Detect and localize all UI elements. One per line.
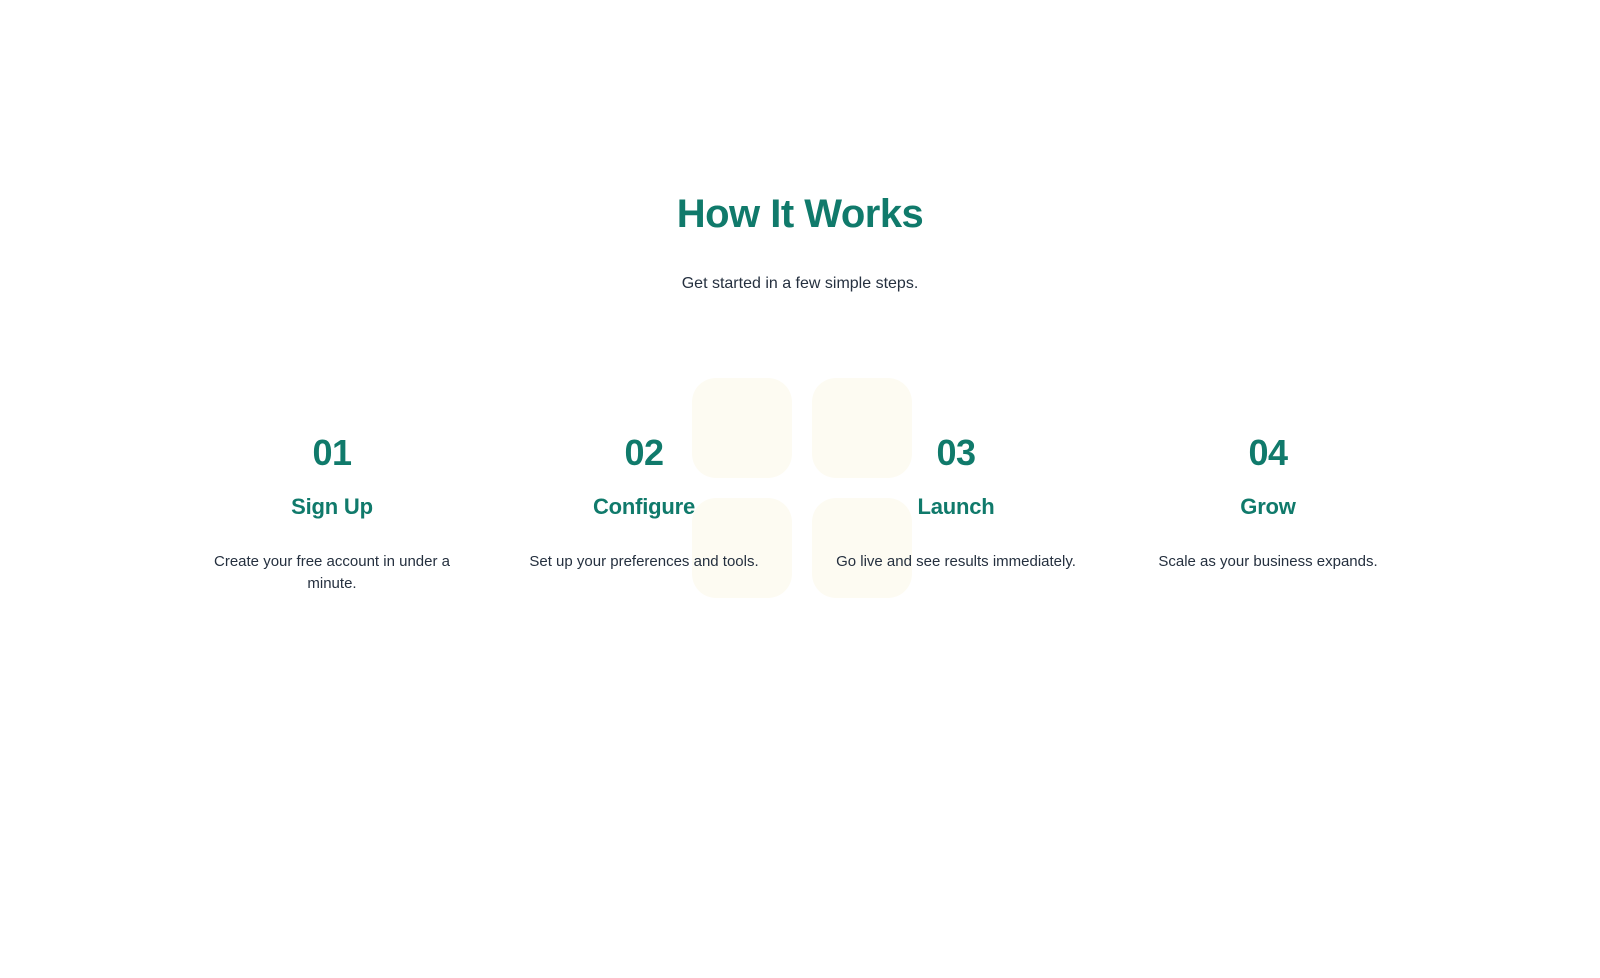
section-subtitle: Get started in a few simple steps. [0,238,1600,296]
step-title: Grow [1128,493,1408,521]
step-description: Set up your preferences and tools. [504,551,784,573]
step-item-01: 01 Sign Up Create your free account in u… [176,432,488,594]
step-description: Create your free account in under a minu… [192,551,472,595]
step-description: Scale as your business expands. [1128,551,1408,573]
step-item-04: 04 Grow Scale as your business expands. [1112,432,1424,573]
section-header: How It Works Get started in a few simple… [0,190,1600,296]
step-number: 04 [1128,432,1408,473]
step-item-03: 03 Launch Go live and see results immedi… [800,432,1112,573]
step-number: 02 [504,432,784,473]
steps-list: 01 Sign Up Create your free account in u… [176,432,1424,594]
page-title: How It Works [0,190,1600,238]
step-number: 03 [816,432,1096,473]
step-title: Configure [504,493,784,521]
step-item-02: 02 Configure Set up your preferences and… [488,432,800,573]
step-title: Launch [816,493,1096,521]
step-title: Sign Up [192,493,472,521]
how-it-works-section: How It Works Get started in a few simple… [0,0,1600,978]
step-number: 01 [192,432,472,473]
step-description: Go live and see results immediately. [816,551,1096,573]
